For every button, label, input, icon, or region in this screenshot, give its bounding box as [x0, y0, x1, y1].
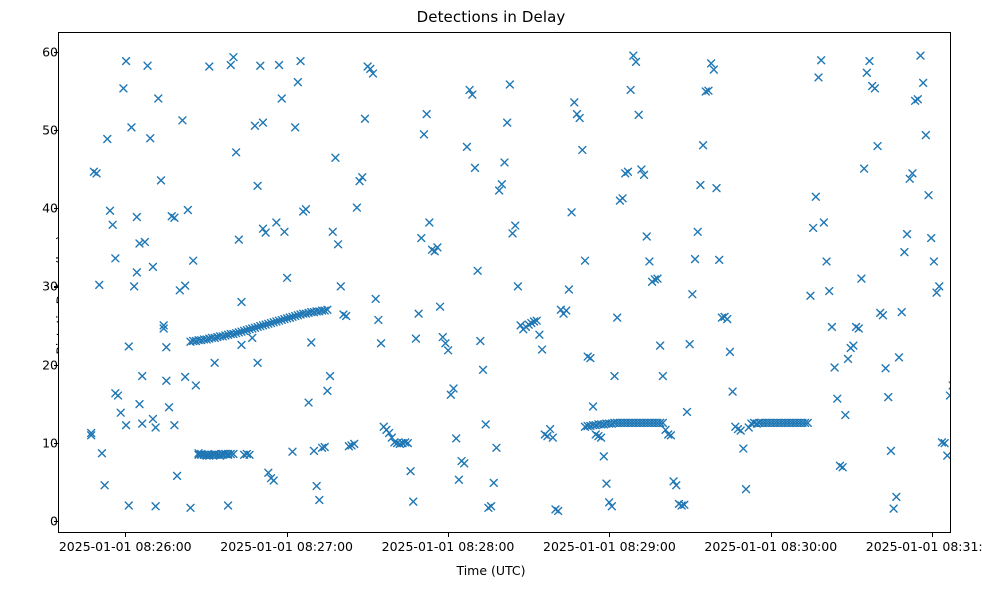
y-tick-mark — [54, 208, 58, 209]
x-tick-mark — [287, 533, 288, 537]
plot-area — [58, 32, 951, 533]
x-tick-label: 2025-01-01 08:30:00 — [704, 539, 837, 554]
x-tick-label: 2025-01-01 08:31:00 — [866, 539, 982, 554]
x-tick-mark — [125, 533, 126, 537]
x-tick-mark — [609, 533, 610, 537]
y-tick-mark — [54, 52, 58, 53]
y-tick-mark — [54, 365, 58, 366]
x-tick-label: 2025-01-01 08:26:00 — [59, 539, 192, 554]
matplotlib-figure: Detections in Delay 0102030405060 Bistat… — [0, 0, 982, 590]
y-tick-mark — [54, 286, 58, 287]
scatter-points — [59, 33, 950, 532]
x-axis-label: Time (UTC) — [0, 563, 982, 578]
y-tick-mark — [54, 443, 58, 444]
x-tick-label: 2025-01-01 08:28:00 — [382, 539, 515, 554]
x-tick-mark — [448, 533, 449, 537]
x-tick-mark — [771, 533, 772, 537]
y-tick-mark — [54, 521, 58, 522]
x-tick-mark — [932, 533, 933, 537]
x-tick-label: 2025-01-01 08:27:00 — [220, 539, 353, 554]
y-tick-mark — [54, 130, 58, 131]
chart-title: Detections in Delay — [0, 8, 982, 26]
y-axis-label-wrapper: Bistatic Delay (km) — [8, 0, 28, 590]
x-tick-label: 2025-01-01 08:29:00 — [543, 539, 676, 554]
